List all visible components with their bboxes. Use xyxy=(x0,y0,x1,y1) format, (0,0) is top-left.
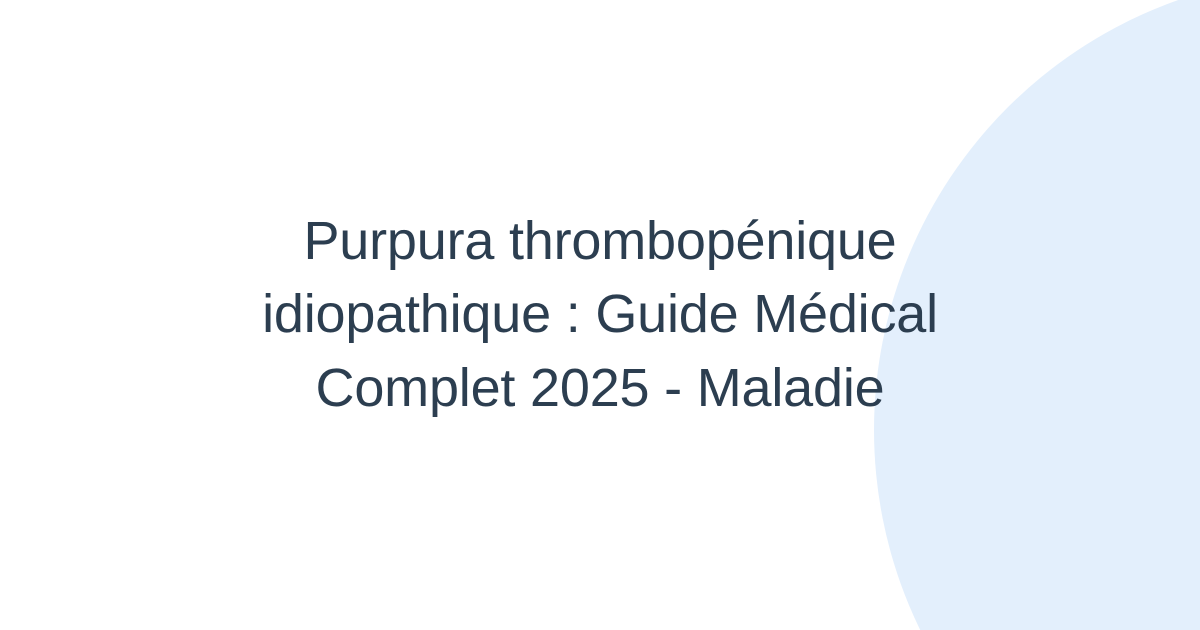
og-card: Purpura thrombopénique idiopathique : Gu… xyxy=(0,0,1200,630)
page-title: Purpura thrombopénique idiopathique : Gu… xyxy=(230,205,970,425)
title-container: Purpura thrombopénique idiopathique : Gu… xyxy=(0,0,1200,630)
